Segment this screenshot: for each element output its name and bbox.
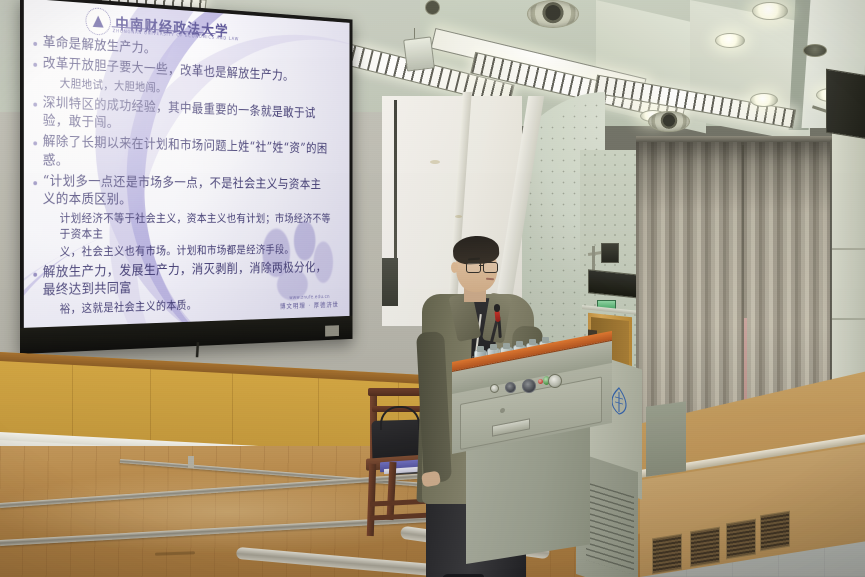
downlight-icon [752, 2, 788, 20]
eyeglass-bridge [479, 265, 484, 266]
stage-vent-grille [690, 527, 720, 568]
downlight-icon [715, 33, 745, 48]
wall-speaker-icon [601, 243, 619, 263]
air-conditioner-unit [403, 36, 435, 71]
slide-bullet-text: 解除了长期以来在计划和市场问题上姓“社”姓“资”的困惑。 [43, 133, 332, 174]
microphone-capsule [494, 304, 500, 312]
slide-surface: 中南财经政法大学 ZHONGNAN UNIVERSITY OF ECONOMIC… [24, 0, 350, 328]
hair [452, 235, 499, 265]
curtain-track [636, 136, 836, 142]
stage-vent-grille [726, 519, 756, 560]
slide-bullet-text: 义，社会主义也有市场。计划和市场都是经济手段。 [43, 243, 294, 261]
hanging-speaker [826, 69, 865, 140]
recessed-fixture-icon [803, 44, 827, 57]
slide-bullet-row: “计划多一点还是市场多一点，不是社会主义与资本主义的本质区别。 [33, 172, 331, 209]
bullet-point-icon [33, 42, 37, 46]
bullet-point-icon [33, 102, 37, 106]
wall-smudge [430, 160, 440, 164]
bullet-point-icon [33, 181, 37, 185]
projection-screen: 中南财经政法大学 ZHONGNAN UNIVERSITY OF ECONOMIC… [20, 0, 353, 354]
downlight-icon [750, 93, 778, 107]
slide-bullet-row: 计划经济不等于社会主义，资本主义也有计划；市场经济不等于资本主 [33, 211, 331, 242]
slide-bullet-text: 解放生产力，发展生产力，消灭剥削，消除两极分化，最终达到共同富 [43, 259, 332, 299]
control-knob[interactable] [505, 382, 516, 393]
lecture-hall-photograph: 中南财经政法大学 ZHONGNAN UNIVERSITY OF ECONOMIC… [0, 0, 865, 577]
equipment-cabinet [646, 401, 686, 477]
air-vent-icon [527, 0, 579, 28]
stage-vent-grille [652, 534, 682, 575]
bullet-point-icon [33, 142, 37, 146]
wall-smudge [455, 215, 462, 218]
stage-vent-grille [760, 511, 790, 552]
slide-bullet-text: “计划多一点还是市场多一点，不是社会主义与资本主义的本质区别。 [43, 172, 332, 209]
bullet-point-icon [33, 273, 37, 277]
eyeglasses-icon [466, 262, 498, 271]
screen-bracket [325, 325, 339, 336]
bag-strap [380, 406, 420, 430]
slide-bullet-text: 大胆地试，大胆地闯。 [43, 76, 167, 97]
slide-bullet-row: 义，社会主义也有市场。计划和市场都是经济手段。 [33, 243, 331, 261]
indicator-light [538, 379, 543, 384]
slide-bullet-row: 解放生产力，发展生产力，消灭剥削，消除两极分化，最终达到共同富 [33, 259, 331, 300]
floor-track-joint [188, 456, 194, 468]
control-knob[interactable] [522, 379, 536, 393]
slide-bullet-text: 计划经济不等于社会主义，资本主义也有计划；市场经济不等于资本主 [43, 211, 332, 242]
university-seal-icon [85, 7, 110, 36]
bullet-point-icon [33, 63, 37, 67]
slide-footer: www.znufe.edu.cn 博文明理 · 厚德济世 [280, 294, 339, 311]
control-knob[interactable] [490, 384, 499, 393]
control-knob[interactable] [548, 374, 562, 388]
slide-bullet-list: 革命是解放生产力。改革开放胆子要大一些，改革也是解放生产力。大胆地试，大胆地闯。… [33, 33, 331, 321]
slide-bullet-row: 解除了长期以来在计划和市场问题上姓“社”姓“资”的困惑。 [33, 133, 331, 174]
lectern-vent-grille [586, 482, 634, 575]
wall-fixture-box [382, 258, 398, 306]
air-vent-icon [648, 111, 690, 132]
ear [451, 262, 458, 273]
lectern [452, 356, 642, 571]
slide-bullet-text: 裕，这就是社会主义的本质。 [43, 298, 197, 318]
ceiling-speaker-icon [425, 0, 440, 15]
